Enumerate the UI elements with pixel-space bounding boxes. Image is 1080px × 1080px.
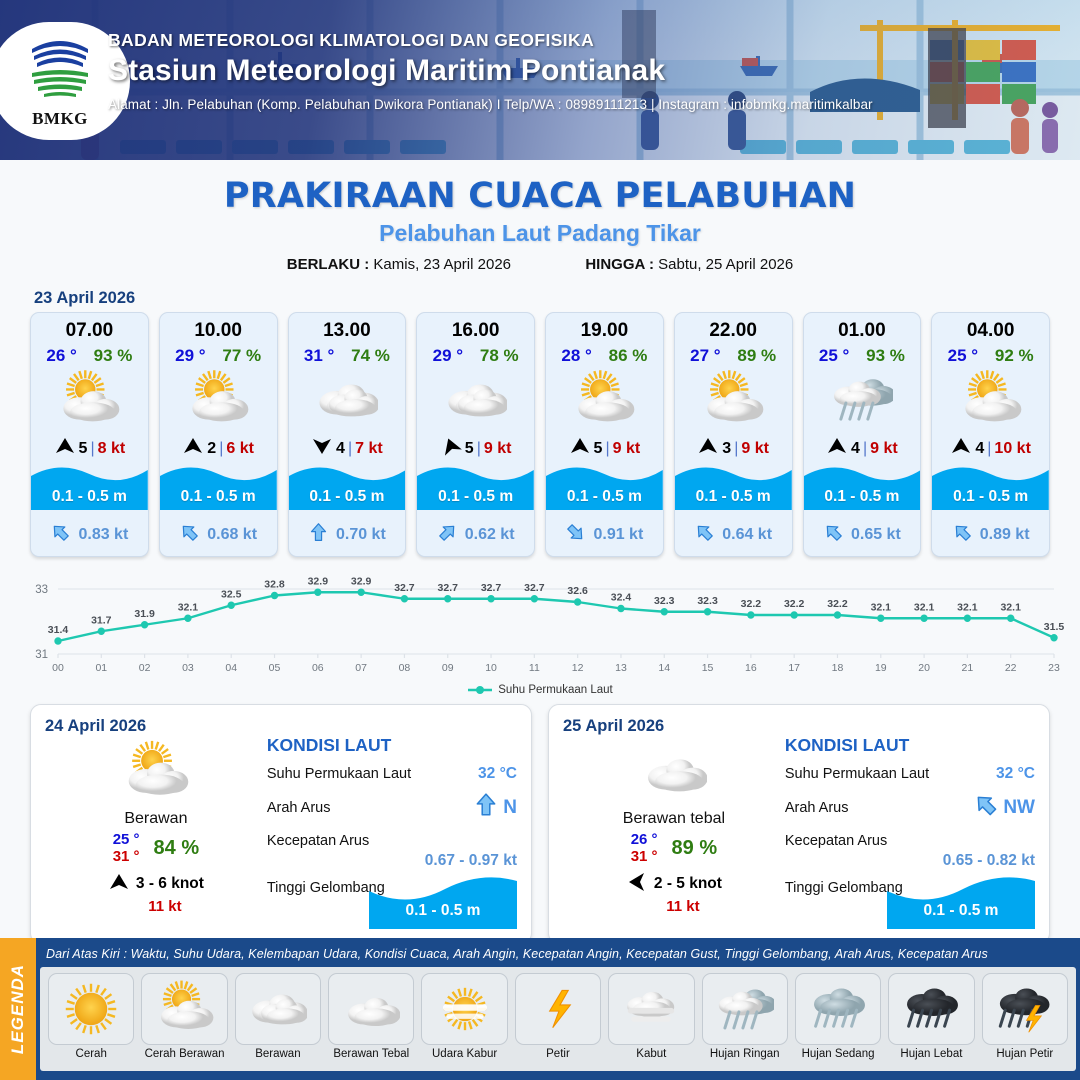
card-wind-separator: | bbox=[863, 440, 867, 458]
day-date: 25 April 2026 bbox=[563, 717, 785, 736]
legend-item: Petir bbox=[515, 973, 601, 1071]
card-humidity: 93 % bbox=[94, 346, 133, 366]
legend-item: Hujan Sedang bbox=[795, 973, 881, 1071]
legend-item-label: Petir bbox=[515, 1048, 601, 1060]
forecast-card[interactable]: 19.00 28 ° 86 % 5 | 9 kt 0.1 - 0.5 m bbox=[545, 312, 664, 557]
card-wind-separator: | bbox=[348, 440, 352, 458]
card-wind-value: 4 bbox=[975, 440, 984, 458]
agency-name: BADAN METEOROLOGI KLIMATOLOGI DAN GEOFIS… bbox=[108, 30, 873, 51]
svg-text:32.2: 32.2 bbox=[784, 598, 805, 610]
cerah-berawan-icon bbox=[31, 369, 148, 431]
legend-item: Udara Kabur bbox=[421, 973, 507, 1071]
svg-text:33: 33 bbox=[35, 584, 48, 596]
sea-condition-title: KONDISI LAUT bbox=[785, 735, 1035, 756]
svg-text:31.4: 31.4 bbox=[48, 624, 69, 636]
svg-text:19: 19 bbox=[875, 662, 887, 674]
svg-text:11: 11 bbox=[529, 662, 540, 674]
valid-from-label: BERLAKU : bbox=[287, 256, 370, 273]
card-wind-separator: | bbox=[219, 440, 223, 458]
current-direction-value: N bbox=[503, 797, 517, 819]
day-temp-max: 31 ° bbox=[631, 848, 658, 865]
hujan-ringan-icon bbox=[804, 369, 921, 431]
page-title: PRAKIRAAN CUACA PELABUHAN bbox=[0, 176, 1080, 216]
card-wave-height: 0.1 - 0.5 m bbox=[289, 488, 406, 506]
legend-item-label: Cerah Berawan bbox=[141, 1048, 227, 1060]
forecast-card[interactable]: 13.00 31 ° 74 % 4 | 7 kt bbox=[288, 312, 407, 557]
svg-text:32.7: 32.7 bbox=[524, 582, 545, 594]
station-address: Alamat : Jln. Pelabuhan (Komp. Pelabuhan… bbox=[108, 97, 873, 112]
udara-kabur-icon bbox=[421, 973, 507, 1045]
svg-text:31.7: 31.7 bbox=[91, 614, 112, 626]
cerah-icon bbox=[48, 973, 134, 1045]
cerah-berawan-icon bbox=[160, 369, 277, 431]
legend-item-label: Udara Kabur bbox=[421, 1048, 507, 1060]
kabut-icon bbox=[608, 973, 694, 1045]
card-current-speed: 0.65 kt bbox=[851, 526, 901, 544]
card-wave-height: 0.1 - 0.5 m bbox=[160, 488, 277, 506]
card-wave-height: 0.1 - 0.5 m bbox=[31, 488, 148, 506]
wind-arrow-west-icon bbox=[108, 873, 130, 896]
legend-item-label: Hujan Petir bbox=[982, 1048, 1068, 1060]
card-temperature: 29 ° bbox=[175, 346, 205, 366]
current-arrow-nw-icon bbox=[952, 522, 973, 548]
svg-text:32.1: 32.1 bbox=[1000, 601, 1021, 613]
card-temperature: 29 ° bbox=[433, 346, 463, 366]
legend-item: Cerah bbox=[48, 973, 134, 1071]
svg-text:32.9: 32.9 bbox=[351, 575, 372, 587]
current-direction-label: Arah Arus bbox=[785, 800, 849, 816]
day-wave-badge: 0.1 - 0.5 m bbox=[887, 875, 1035, 929]
current-speed-label: Kecepatan Arus bbox=[267, 833, 369, 849]
wave-height-label: Tinggi Gelombang bbox=[785, 880, 903, 896]
current-arrow-ne-icon bbox=[437, 522, 458, 548]
card-humidity: 74 % bbox=[351, 346, 390, 366]
svg-text:14: 14 bbox=[658, 662, 670, 674]
svg-text:32.9: 32.9 bbox=[308, 575, 329, 587]
card-current-speed: 0.70 kt bbox=[336, 526, 386, 544]
legend-item: Cerah Berawan bbox=[141, 973, 227, 1071]
day-wave-height: 0.1 - 0.5 m bbox=[887, 902, 1035, 920]
svg-text:32.1: 32.1 bbox=[871, 601, 892, 613]
valid-from-value: Kamis, 23 April 2026 bbox=[373, 256, 511, 273]
svg-text:02: 02 bbox=[139, 662, 151, 674]
svg-text:32.5: 32.5 bbox=[221, 588, 242, 600]
current-speed-value: 0.65 - 0.82 kt bbox=[785, 852, 1035, 870]
svg-text:31.9: 31.9 bbox=[134, 608, 155, 620]
day-gust: 11 kt bbox=[563, 898, 785, 915]
svg-text:32.8: 32.8 bbox=[264, 579, 285, 591]
card-gust: 9 kt bbox=[870, 440, 898, 458]
card-humidity: 77 % bbox=[222, 346, 261, 366]
day-humidity: 89 % bbox=[672, 837, 718, 860]
svg-text:20: 20 bbox=[918, 662, 930, 674]
card-wind-value: 2 bbox=[207, 440, 216, 458]
legend-item-label: Berawan Tebal bbox=[328, 1048, 414, 1060]
svg-text:32.2: 32.2 bbox=[741, 598, 762, 610]
current-arrow-north-icon bbox=[308, 522, 329, 548]
svg-text:32.1: 32.1 bbox=[914, 601, 935, 613]
svg-text:32.1: 32.1 bbox=[957, 601, 978, 613]
svg-text:03: 03 bbox=[182, 662, 194, 674]
card-humidity: 92 % bbox=[995, 346, 1034, 366]
svg-text:31.5: 31.5 bbox=[1044, 621, 1065, 633]
svg-text:06: 06 bbox=[312, 662, 324, 674]
legend-item-label: Cerah bbox=[48, 1048, 134, 1060]
card-current-speed: 0.83 kt bbox=[78, 526, 128, 544]
wind-arrow-wsw-icon bbox=[440, 437, 462, 460]
card-wind-separator: | bbox=[734, 440, 738, 458]
current-arrow-nw-icon bbox=[179, 522, 200, 548]
legend-item: Hujan Lebat bbox=[888, 973, 974, 1071]
legend-item: Berawan bbox=[235, 973, 321, 1071]
day-humidity: 84 % bbox=[154, 837, 200, 860]
current-arrow-nw-icon bbox=[50, 522, 71, 548]
valid-to-value: Sabtu, 25 April 2026 bbox=[658, 256, 793, 273]
svg-text:13: 13 bbox=[615, 662, 627, 674]
page-header: BMKG BADAN METEOROLOGI KLIMATOLOGI DAN G… bbox=[0, 0, 1080, 160]
card-current-speed: 0.62 kt bbox=[465, 526, 515, 544]
card-wind-value: 5 bbox=[79, 440, 88, 458]
card-gust: 10 kt bbox=[994, 440, 1030, 458]
card-gust: 7 kt bbox=[355, 440, 383, 458]
legend-item-label: Hujan Sedang bbox=[795, 1048, 881, 1060]
card-time: 07.00 bbox=[31, 320, 148, 342]
cerah-berawan-icon bbox=[141, 973, 227, 1045]
chart-legend: Suhu Permukaan Laut bbox=[0, 684, 1080, 696]
svg-text:32.7: 32.7 bbox=[438, 582, 459, 594]
card-time: 19.00 bbox=[546, 320, 663, 342]
svg-text:15: 15 bbox=[702, 662, 714, 674]
svg-text:32.7: 32.7 bbox=[481, 582, 502, 594]
current-arrow-se-icon bbox=[565, 522, 586, 548]
day-gust: 11 kt bbox=[45, 898, 267, 915]
card-time: 10.00 bbox=[160, 320, 277, 342]
card-wind-separator: | bbox=[987, 440, 991, 458]
legend-item-label: Hujan Lebat bbox=[888, 1048, 974, 1060]
card-wave-height: 0.1 - 0.5 m bbox=[546, 488, 663, 506]
current-arrow-nw-icon bbox=[973, 792, 999, 823]
svg-text:04: 04 bbox=[225, 662, 237, 674]
card-gust: 9 kt bbox=[484, 440, 512, 458]
daily-forecast-panel[interactable]: 24 April 2026 Berawan 25 ° 31 ° 84 % 3 -… bbox=[30, 704, 532, 944]
svg-text:32.3: 32.3 bbox=[697, 595, 718, 607]
current-arrow-nw-icon bbox=[694, 522, 715, 548]
day-temp-min: 25 ° bbox=[113, 831, 140, 848]
svg-text:01: 01 bbox=[95, 662, 107, 674]
wind-arrow-south-icon bbox=[626, 873, 648, 896]
svg-text:08: 08 bbox=[399, 662, 411, 674]
wind-arrow-west-icon bbox=[182, 437, 204, 460]
svg-text:22: 22 bbox=[1005, 662, 1017, 674]
current-direction-label: Arah Arus bbox=[267, 800, 331, 816]
card-wind-value: 4 bbox=[336, 440, 345, 458]
sst-label: Suhu Permukaan Laut bbox=[785, 766, 929, 782]
card-time: 13.00 bbox=[289, 320, 406, 342]
svg-text:16: 16 bbox=[745, 662, 757, 674]
card-gust: 6 kt bbox=[226, 440, 254, 458]
day-wave-badge: 0.1 - 0.5 m bbox=[369, 875, 517, 929]
card-humidity: 86 % bbox=[609, 346, 648, 366]
day-date: 24 April 2026 bbox=[45, 717, 267, 736]
card-time: 04.00 bbox=[932, 320, 1049, 342]
weather-legend: LEGENDA Dari Atas Kiri : Waktu, Suhu Uda… bbox=[0, 938, 1080, 1080]
card-gust: 9 kt bbox=[741, 440, 769, 458]
chart-legend-marker-icon bbox=[467, 685, 493, 695]
legend-item-label: Hujan Ringan bbox=[702, 1048, 788, 1060]
bmkg-logo-text: BMKG bbox=[12, 109, 108, 129]
legend-item-row: Cerah Cerah Berawan Berawan bbox=[40, 967, 1076, 1071]
card-wind-separator: | bbox=[90, 440, 94, 458]
legend-note: Dari Atas Kiri : Waktu, Suhu Udara, Kele… bbox=[36, 938, 1080, 961]
day-temp-max: 31 ° bbox=[113, 848, 140, 865]
card-time: 16.00 bbox=[417, 320, 534, 342]
forecast-card[interactable]: 10.00 29 ° 77 % 2 | 6 kt 0.1 - 0.5 m bbox=[159, 312, 278, 557]
card-wind-value: 5 bbox=[465, 440, 474, 458]
valid-to-label: HINGGA : bbox=[585, 256, 654, 273]
wind-arrow-west-icon bbox=[950, 437, 972, 460]
current-speed-label: Kecepatan Arus bbox=[785, 833, 887, 849]
hujan-ringan-icon bbox=[702, 973, 788, 1045]
legend-item: Hujan Ringan bbox=[702, 973, 788, 1071]
sst-chart: 3133000102030405060708091011121314151617… bbox=[14, 567, 1066, 682]
day-wind-range: 2 - 5 knot bbox=[654, 875, 722, 893]
petir-icon bbox=[515, 973, 601, 1045]
card-current-speed: 0.89 kt bbox=[980, 526, 1030, 544]
svg-text:09: 09 bbox=[442, 662, 454, 674]
card-temperature: 26 ° bbox=[46, 346, 76, 366]
validity-row: BERLAKU : Kamis, 23 April 2026 HINGGA : … bbox=[0, 256, 1080, 273]
cerah-berawan-icon bbox=[45, 738, 267, 806]
card-time: 01.00 bbox=[804, 320, 921, 342]
svg-text:32.3: 32.3 bbox=[654, 595, 675, 607]
card-wind-value: 4 bbox=[851, 440, 860, 458]
cerah-berawan-icon bbox=[675, 369, 792, 431]
card-wave-height: 0.1 - 0.5 m bbox=[675, 488, 792, 506]
legend-item: Hujan Petir bbox=[982, 973, 1068, 1071]
cerah-berawan-icon bbox=[546, 369, 663, 431]
card-temperature: 31 ° bbox=[304, 346, 334, 366]
svg-text:17: 17 bbox=[788, 662, 800, 674]
sea-condition-title: KONDISI LAUT bbox=[267, 735, 517, 756]
day-wind-range: 3 - 6 knot bbox=[136, 875, 204, 893]
svg-text:12: 12 bbox=[572, 662, 584, 674]
forecast-card[interactable]: 04.00 25 ° 92 % 4 | 10 kt 0.1 - 0.5 m bbox=[931, 312, 1050, 557]
chart-legend-label: Suhu Permukaan Laut bbox=[498, 684, 612, 696]
svg-text:00: 00 bbox=[52, 662, 64, 674]
svg-text:32.1: 32.1 bbox=[178, 601, 199, 613]
legend-item-label: Kabut bbox=[608, 1048, 694, 1060]
card-gust: 9 kt bbox=[613, 440, 641, 458]
wind-arrow-west-icon bbox=[569, 437, 591, 460]
svg-text:05: 05 bbox=[269, 662, 281, 674]
card-current-speed: 0.64 kt bbox=[722, 526, 772, 544]
card-temperature: 25 ° bbox=[948, 346, 978, 366]
forecast-card-row: 07.00 26 ° 93 % 5 | 8 kt 0.1 - 0.5 m bbox=[0, 312, 1080, 557]
station-name: Stasiun Meteorologi Maritim Pontianak bbox=[108, 54, 873, 88]
day-condition: Berawan tebal bbox=[563, 810, 785, 828]
svg-text:18: 18 bbox=[832, 662, 844, 674]
hujan-sedang-icon bbox=[795, 973, 881, 1045]
current-arrow-north-icon bbox=[473, 792, 499, 823]
svg-text:07: 07 bbox=[355, 662, 367, 674]
page-subtitle: Pelabuhan Laut Padang Tikar bbox=[0, 220, 1080, 247]
hujan-petir-icon bbox=[982, 973, 1068, 1045]
title-block: PRAKIRAAN CUACA PELABUHAN Pelabuhan Laut… bbox=[0, 176, 1080, 273]
forecast-card[interactable]: 07.00 26 ° 93 % 5 | 8 kt 0.1 - 0.5 m bbox=[30, 312, 149, 557]
card-temperature: 28 ° bbox=[561, 346, 591, 366]
card-temperature: 25 ° bbox=[819, 346, 849, 366]
berawan-tebal-icon bbox=[563, 738, 785, 806]
sst-value: 32 °C bbox=[996, 765, 1035, 783]
card-gust: 8 kt bbox=[98, 440, 126, 458]
wave-height-label: Tinggi Gelombang bbox=[267, 880, 385, 896]
card-temperature: 27 ° bbox=[690, 346, 720, 366]
daily-forecast-row: 24 April 2026 Berawan 25 ° 31 ° 84 % 3 -… bbox=[0, 696, 1080, 944]
card-humidity: 93 % bbox=[866, 346, 905, 366]
legend-side-label: LEGENDA bbox=[8, 964, 28, 1054]
day-wave-height: 0.1 - 0.5 m bbox=[369, 902, 517, 920]
svg-text:31: 31 bbox=[35, 649, 48, 661]
hujan-lebat-icon bbox=[888, 973, 974, 1045]
legend-item-label: Berawan bbox=[235, 1048, 321, 1060]
card-wave-height: 0.1 - 0.5 m bbox=[417, 488, 534, 506]
card-wind-separator: | bbox=[605, 440, 609, 458]
day-condition: Berawan bbox=[45, 810, 267, 828]
legend-side-tab: LEGENDA bbox=[0, 938, 36, 1080]
legend-item: Kabut bbox=[608, 973, 694, 1071]
berawan-tebal-icon bbox=[328, 973, 414, 1045]
card-wave-height: 0.1 - 0.5 m bbox=[932, 488, 1049, 506]
sst-label: Suhu Permukaan Laut bbox=[267, 766, 411, 782]
svg-text:32.7: 32.7 bbox=[394, 582, 415, 594]
card-current-speed: 0.68 kt bbox=[207, 526, 257, 544]
svg-text:32.4: 32.4 bbox=[611, 592, 632, 604]
card-humidity: 78 % bbox=[480, 346, 519, 366]
sst-value: 32 °C bbox=[478, 765, 517, 783]
svg-text:32.2: 32.2 bbox=[827, 598, 848, 610]
cerah-berawan-icon bbox=[932, 369, 1049, 431]
forecast-card[interactable]: 22.00 27 ° 89 % 3 | 9 kt 0.1 - 0.5 m bbox=[674, 312, 793, 557]
wind-arrow-west-icon bbox=[826, 437, 848, 460]
svg-text:32.6: 32.6 bbox=[567, 585, 588, 597]
forecast-card[interactable]: 16.00 29 ° 78 % 5 | 9 kt bbox=[416, 312, 535, 557]
current-arrow-nw-icon bbox=[823, 522, 844, 548]
card-wind-value: 3 bbox=[722, 440, 731, 458]
daily-forecast-panel[interactable]: 25 April 2026 Berawan tebal 26 ° 31 ° 89… bbox=[548, 704, 1050, 944]
berawan-icon bbox=[417, 369, 534, 431]
bmkg-emblem-icon bbox=[20, 33, 100, 103]
day-temp-min: 26 ° bbox=[631, 831, 658, 848]
card-humidity: 89 % bbox=[737, 346, 776, 366]
forecast-card[interactable]: 01.00 25 ° 93 % 4 | 9 kt bbox=[803, 312, 922, 557]
card-current-speed: 0.91 kt bbox=[593, 526, 643, 544]
card-wind-separator: | bbox=[477, 440, 481, 458]
card-time: 22.00 bbox=[675, 320, 792, 342]
wind-arrow-west-icon bbox=[697, 437, 719, 460]
card-wind-value: 5 bbox=[594, 440, 603, 458]
berawan-icon bbox=[289, 369, 406, 431]
forecast-date: 23 April 2026 bbox=[34, 289, 1080, 308]
wind-arrow-west-icon bbox=[54, 437, 76, 460]
current-speed-value: 0.67 - 0.97 kt bbox=[267, 852, 517, 870]
wind-arrow-east-icon bbox=[311, 437, 333, 460]
svg-text:10: 10 bbox=[485, 662, 497, 674]
svg-text:21: 21 bbox=[962, 662, 974, 674]
legend-item: Berawan Tebal bbox=[328, 973, 414, 1071]
berawan-icon bbox=[235, 973, 321, 1045]
svg-text:23: 23 bbox=[1048, 662, 1060, 674]
card-wave-height: 0.1 - 0.5 m bbox=[804, 488, 921, 506]
current-direction-value: NW bbox=[1003, 797, 1035, 819]
